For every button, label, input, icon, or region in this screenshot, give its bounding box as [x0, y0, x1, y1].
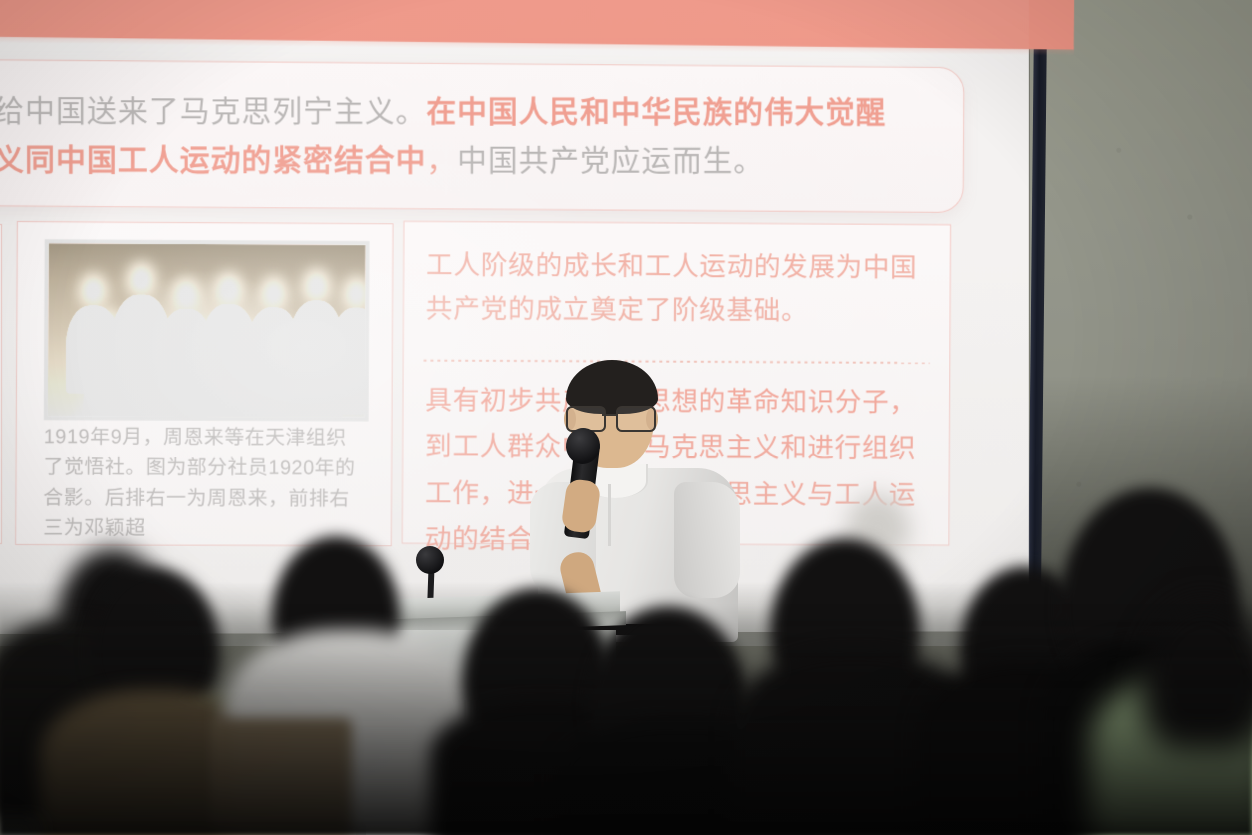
presentation-slide: 给中国送来了马克思列宁主义。在中国人民和中华民族的伟大觉醒 义同中国工人运动的紧…	[0, 0, 1029, 634]
wall-shadow-gradient	[1030, 0, 1252, 835]
slide-offscreen-card-edge	[0, 224, 2, 544]
top-card-text-coral-2: 义同中国工人运动的紧密结合中	[0, 144, 426, 177]
projection-screen: 给中国送来了马克思列宁主义。在中国人民和中华民族的伟大觉醒 义同中国工人运动的紧…	[0, 0, 1029, 634]
eyeglasses-icon	[564, 406, 660, 428]
audience-torso	[40, 690, 270, 835]
gooseneck-mic-head	[416, 546, 444, 574]
desk-surface	[40, 700, 340, 760]
photograph-scene: 给中国送来了马克思列宁主义。在中国人民和中华民族的伟大觉醒 义同中国工人运动的紧…	[0, 0, 1252, 835]
historical-group-photo	[44, 239, 370, 421]
slide-paragraph-1: 工人阶级的成长和工人运动的发展为中国共产党的成立奠定了阶级基础。	[426, 244, 931, 334]
presenter-shirt-placket	[608, 484, 611, 546]
slide-photo-card: 1919年9月，周恩来等在天津组织了觉悟社。图为部分社员1920年的合影。后排右…	[15, 221, 393, 546]
photo-figure	[124, 318, 172, 416]
lectern	[336, 596, 636, 835]
photo-caption-text: 1919年9月，周恩来等在天津组织了觉悟社。图为部分社员1920年的合影。后排右…	[43, 422, 362, 545]
lectern-shadow	[356, 630, 626, 835]
top-card-text-gray-end: 中国共产党应运而生。	[457, 144, 764, 177]
audience-torso	[730, 650, 980, 835]
slide-top-card-text: 给中国送来了马克思列宁主义。在中国人民和中华民族的伟大觉醒 义同中国工人运动的紧…	[0, 88, 946, 186]
audience-torso	[0, 620, 160, 820]
chair-back	[212, 718, 352, 835]
presenter-right-sleeve	[674, 482, 740, 598]
top-card-comma: ，	[426, 144, 457, 177]
top-card-text-gray-intro: 给中国送来了马克思列宁主义。	[0, 95, 426, 129]
top-card-line-2: 义同中国工人运动的紧密结合中，中国共产党应运而生。	[0, 137, 946, 187]
top-card-text-coral-1: 在中国人民和中华民族的伟大觉醒	[426, 96, 886, 130]
top-card-line-1: 给中国送来了马克思列宁主义。在中国人民和中华民族的伟大觉醒	[0, 88, 946, 138]
